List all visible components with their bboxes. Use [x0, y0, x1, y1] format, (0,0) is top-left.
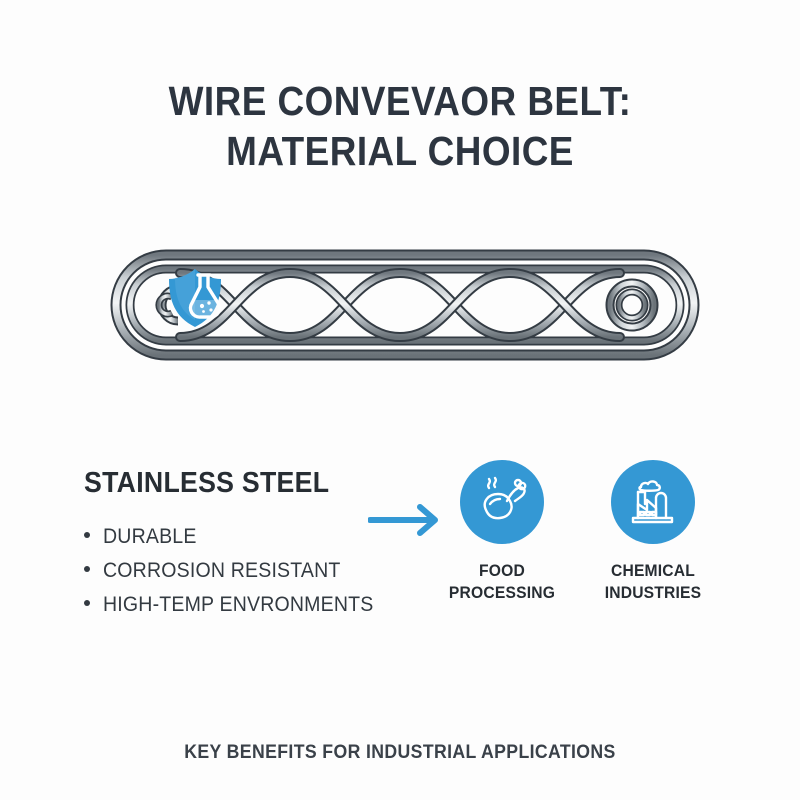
application-label: CHEMICAL INDUSTRIES	[584, 560, 722, 604]
roast-chicken-icon	[460, 460, 544, 544]
list-item: CORROSION RESISTANT	[84, 554, 414, 588]
belt-svg	[110, 245, 700, 375]
application-label-line1: FOOD	[479, 561, 525, 580]
footer-caption: KEY BENEFITS FOR INDUSTRIAL APPLICATIONS	[28, 742, 772, 764]
belt-weave-strands	[180, 273, 620, 337]
factory-svg	[625, 474, 681, 530]
material-heading: STAINLESS STEEL	[84, 466, 388, 500]
benefit-list: DURABLE CORROSION RESISTANT HIGH-TEMP EN…	[84, 520, 414, 622]
application-chemical-industries: CHEMICAL INDUSTRIES	[578, 460, 728, 604]
bullet-icon	[84, 600, 90, 606]
chicken-svg	[474, 474, 530, 530]
list-item: DURABLE	[84, 520, 414, 554]
title-line-1: WIRE CONVEVAOR BELT:	[40, 76, 760, 126]
application-label-line2: PROCESSING	[449, 583, 555, 602]
list-item: HIGH-TEMP ENVRONMENTS	[84, 588, 414, 622]
benefit-label: CORROSION RESISTANT	[103, 554, 341, 588]
title-line-2: MATERIAL CHOICE	[40, 126, 760, 176]
benefit-label: HIGH-TEMP ENVRONMENTS	[103, 588, 373, 622]
application-food-processing: FOOD PROCESSING	[427, 460, 577, 604]
belt-right-spiral	[610, 283, 654, 327]
material-section: STAINLESS STEEL DURABLE CORROSION RESIST…	[84, 466, 414, 622]
page-title: WIRE CONVEVAOR BELT: MATERIAL CHOICE	[0, 76, 800, 176]
bullet-icon	[84, 566, 90, 572]
application-label: FOOD PROCESSING	[433, 560, 571, 604]
wire-conveyor-belt-illustration	[110, 245, 700, 375]
application-label-line1: CHEMICAL	[611, 561, 695, 580]
application-label-line2: INDUSTRIES	[605, 583, 702, 602]
benefit-label: DURABLE	[103, 520, 197, 554]
factory-icon	[611, 460, 695, 544]
bullet-icon	[84, 532, 90, 538]
